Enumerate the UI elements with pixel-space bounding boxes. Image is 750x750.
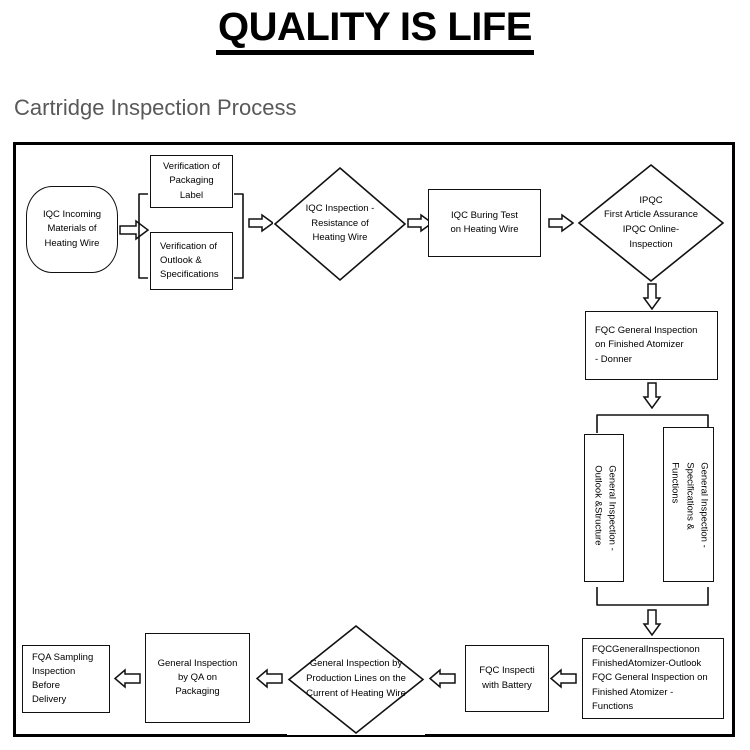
arrow-left-fqc-outlook-to-battery	[549, 668, 577, 689]
node-verification-packaging-label-text: Verification of Packaging Label	[151, 160, 232, 203]
node-iqc-inspection-resistance[interactable]: IQC Inspection - Resistance of Heating W…	[273, 166, 407, 282]
arrow-left-qa-packaging-to-fqa-sampling	[113, 668, 141, 689]
node-verification-outlook-specifications-text: Verification of Outlook & Specifications	[151, 240, 232, 283]
node-fqc-outlook-functions-text: FQCGeneralInspectionon FinishedAtomizer-…	[583, 643, 723, 714]
node-general-inspection-specifications-functions[interactable]: General Inspection - Specifications & Fu…	[663, 427, 714, 582]
node-iqc-buring-test[interactable]: IQC Buring Test on Heating Wire	[428, 189, 541, 257]
node-verification-outlook-specifications[interactable]: Verification of Outlook & Specifications	[150, 232, 233, 290]
node-fqc-donner-text: FQC General Inspection on Finished Atomi…	[586, 324, 717, 367]
node-iqc-inspection-resistance-label: IQC Inspection - Resistance of Heating W…	[273, 166, 407, 282]
node-general-inspection-production-lines[interactable]: General Inspection by Production Lines o…	[287, 624, 425, 735]
node-ipqc[interactable]: IPQC First Article Assurance IPQC Online…	[577, 163, 725, 283]
node-fqc-inspect-battery[interactable]: FQC Inspecti with Battery	[465, 645, 549, 712]
node-ipqc-label: IPQC First Article Assurance IPQC Online…	[577, 163, 725, 283]
bracket-close-verification	[233, 192, 247, 280]
arrow-down-ipqc-to-donner	[642, 283, 662, 311]
node-general-inspection-outlook-structure-text: General Inspection - Outlook &Structure	[590, 465, 619, 551]
node-general-inspection-production-lines-label: General Inspection by Production Lines o…	[287, 624, 425, 735]
node-fqa-sampling-text: FQA Sampling Inspection Before Delivery	[23, 651, 109, 708]
arrow-down-split-to-fqc-outlook	[642, 609, 662, 637]
page-title: QUALITY IS LIFE	[0, 6, 750, 55]
node-iqc-buring-test-text: IQC Buring Test on Heating Wire	[429, 209, 540, 238]
bracket-open-verification	[135, 192, 149, 280]
node-general-inspection-qa-packaging-text: General Inspection by QA on Packaging	[146, 657, 249, 700]
node-fqc-donner[interactable]: FQC General Inspection on Finished Atomi…	[585, 311, 718, 380]
arrow-left-battery-to-production-lines	[428, 668, 456, 689]
node-verification-packaging-label[interactable]: Verification of Packaging Label	[150, 155, 233, 208]
node-general-inspection-specifications-functions-text: General Inspection - Specifications & Fu…	[667, 462, 710, 548]
node-fqc-outlook-functions[interactable]: FQCGeneralInspectionon FinishedAtomizer-…	[582, 638, 724, 719]
node-general-inspection-qa-packaging[interactable]: General Inspection by QA on Packaging	[145, 633, 250, 723]
node-general-inspection-outlook-structure[interactable]: General Inspection - Outlook &Structure	[584, 434, 624, 582]
node-fqa-sampling[interactable]: FQA Sampling Inspection Before Delivery	[22, 645, 110, 713]
arrow-down-donner-to-split	[642, 382, 662, 410]
bracket-bottom-general-inspection	[595, 586, 710, 609]
flowchart-page: QUALITY IS LIFE Cartridge Inspection Pro…	[0, 0, 750, 750]
page-subtitle: Cartridge Inspection Process	[14, 95, 296, 121]
page-title-text: QUALITY IS LIFE	[216, 6, 534, 55]
node-iqc-incoming[interactable]: IQC Incoming Materials of Heating Wire	[26, 186, 118, 273]
node-fqc-inspect-battery-text: FQC Inspecti with Battery	[466, 664, 548, 693]
arrow-right-buring-to-ipqc	[548, 213, 574, 233]
node-iqc-incoming-label: IQC Incoming Materials of Heating Wire	[27, 208, 117, 251]
arrow-right-verification-to-resistance	[248, 213, 274, 233]
arrow-left-production-lines-to-qa-packaging	[255, 668, 283, 689]
